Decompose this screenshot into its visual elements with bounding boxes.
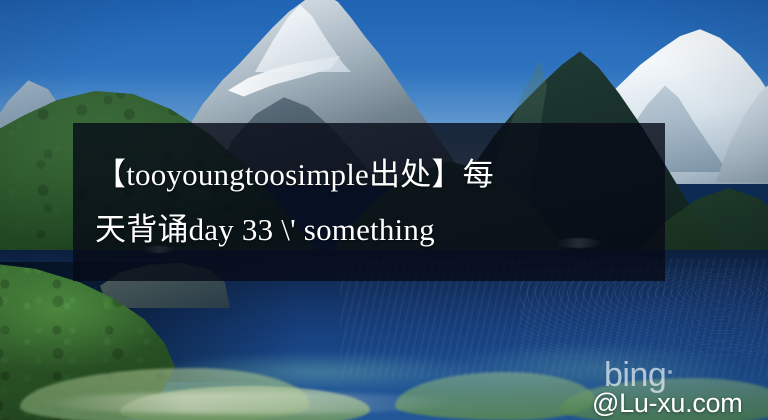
caption-text-block: 【tooyoungtoosimple出处】每 天背诵day 33 \' some…: [73, 123, 665, 281]
site-watermark: @Lu-xu.com: [592, 389, 742, 417]
shoreline-foam: [40, 392, 460, 414]
bing-logo[interactable]: bing: [604, 358, 672, 392]
screenshot-canvas: 【tooyoungtoosimple出处】每 天背诵day 33 \' some…: [0, 0, 768, 420]
caption-line-2: 天背诵day 33 \' something: [95, 202, 665, 257]
caption-line-1: 【tooyoungtoosimple出处】每: [95, 147, 665, 202]
bing-logo-dot: [668, 370, 672, 374]
